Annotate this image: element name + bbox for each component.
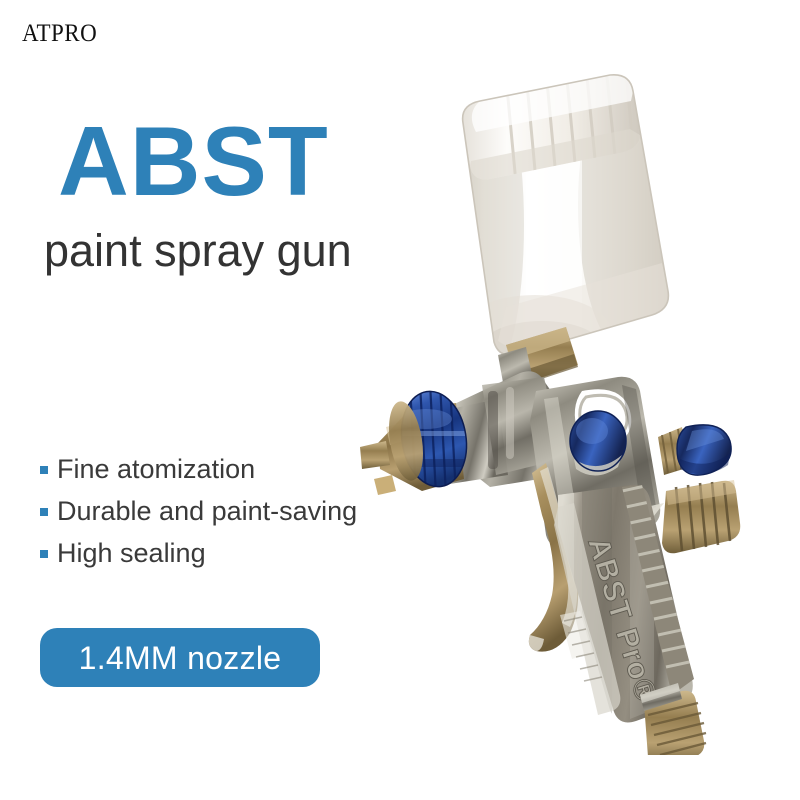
status-badge: 1.4MM nozzle xyxy=(40,628,320,687)
page-title: ABST xyxy=(58,112,329,210)
air-inlet xyxy=(640,683,706,755)
brand-logo: ATPRO xyxy=(22,20,97,48)
fluid-knob xyxy=(570,411,626,476)
nozzle-badge-label: 1.4MM nozzle xyxy=(79,642,282,674)
fluid-nozzle-tip xyxy=(360,441,390,469)
air-adjustment-knob xyxy=(662,480,740,553)
list-item: Fine atomization xyxy=(40,448,357,490)
feature-list: Fine atomization Durable and paint-savin… xyxy=(40,448,357,574)
product-image: ABST Pro® xyxy=(330,55,800,755)
list-item: High sealing xyxy=(40,532,357,574)
list-item: Durable and paint-saving xyxy=(40,490,357,532)
bullet-square-icon xyxy=(40,466,48,474)
bullet-square-icon xyxy=(40,550,48,558)
air-cap xyxy=(360,383,473,495)
bullet-square-icon xyxy=(40,508,48,516)
feature-label: Durable and paint-saving xyxy=(57,498,357,525)
product-banner: ATPRO ABST paint spray gun Fine atomizat… xyxy=(0,0,800,800)
feature-label: High sealing xyxy=(57,540,206,567)
fan-pattern-knob xyxy=(658,425,731,475)
page-subtitle: paint spray gun xyxy=(44,228,352,273)
paint-cup xyxy=(456,55,682,375)
feature-label: Fine atomization xyxy=(57,456,255,483)
